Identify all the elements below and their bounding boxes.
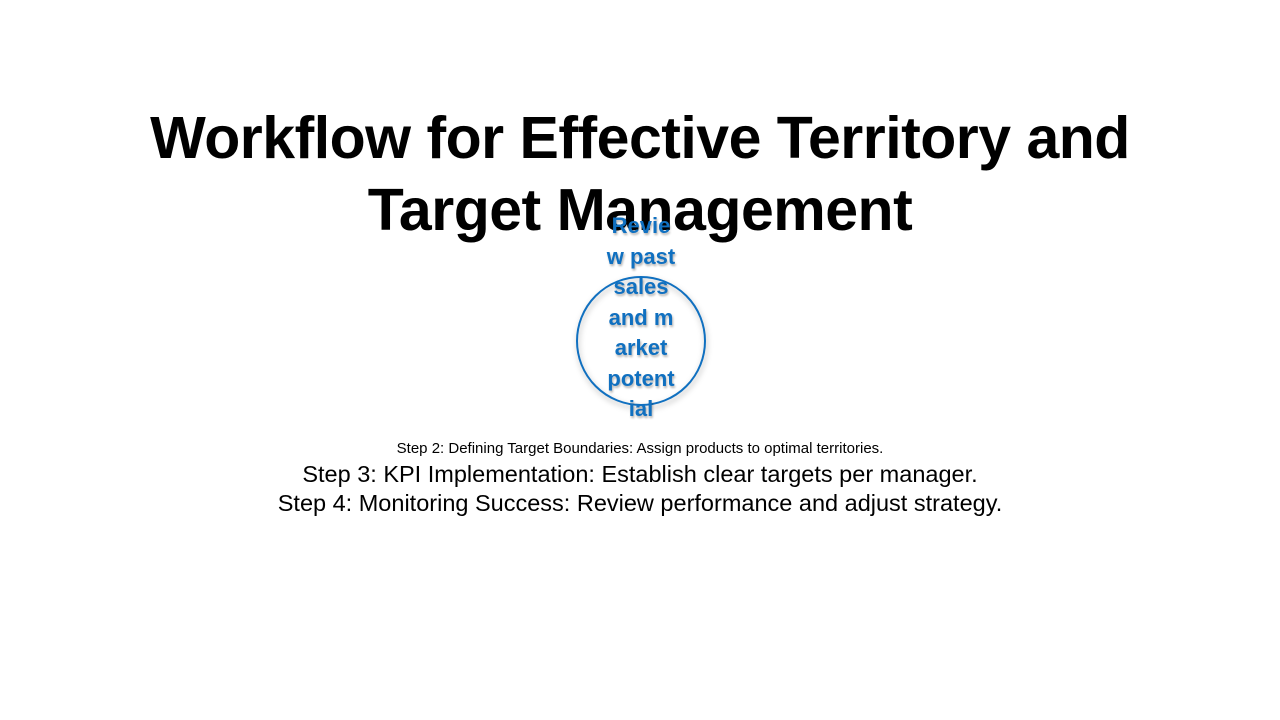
step-text-4: Step 4: Monitoring Success: Review perfo… bbox=[0, 488, 1280, 518]
step-text-3: Step 3: KPI Implementation: Establish cl… bbox=[0, 459, 1280, 489]
step-text-2: Step 2: Defining Target Boundaries: Assi… bbox=[0, 439, 1280, 459]
page-title: Workflow for Effective Territory and Tar… bbox=[120, 102, 1160, 246]
diagram-node-review[interactable]: Review past sales and market potential bbox=[576, 276, 706, 406]
circle-shape bbox=[576, 276, 706, 406]
slide-canvas: Workflow for Effective Territory and Tar… bbox=[0, 0, 1280, 720]
